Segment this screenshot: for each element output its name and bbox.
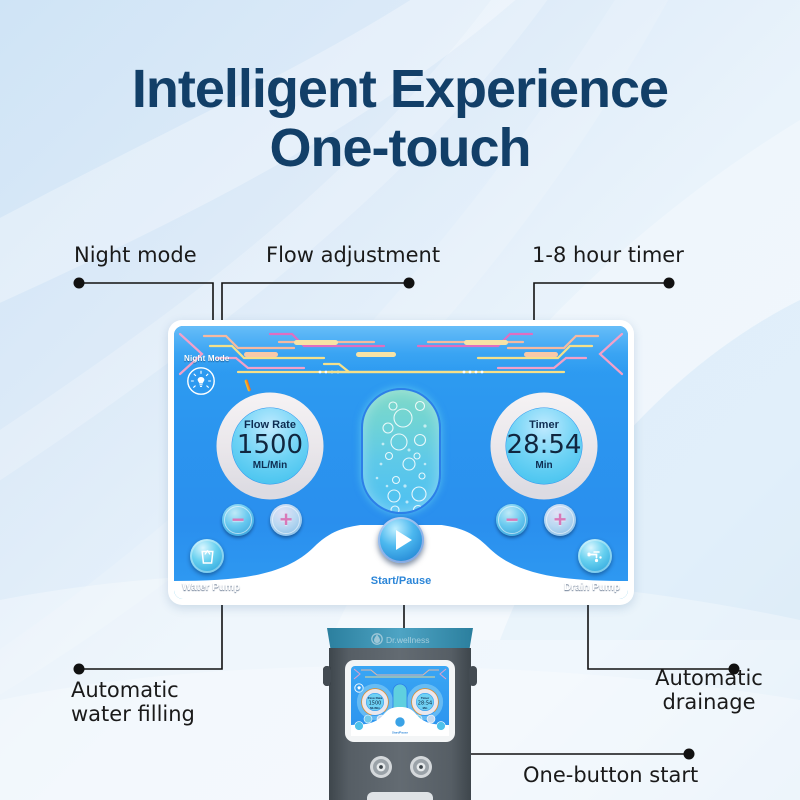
water-pump-label: Water Pump [182,582,240,593]
play-icon [396,530,412,550]
svg-text:Drain Pump: Drain Pump [433,732,448,736]
svg-text:ML/Min: ML/Min [370,706,380,710]
svg-text:Min: Min [423,706,428,710]
callout-automatic-water-filling: Automatic water filling [71,678,271,727]
headline-line-1: Intelligent Experience [0,62,800,117]
bubble-chamber-display [361,388,441,514]
drain-pump-button[interactable] [578,539,612,573]
svg-text:Timer: Timer [421,696,430,700]
device-brand-text: Dr.wellness [386,635,429,645]
callout-drainage-line-2: drainage [662,690,755,714]
callout-water-filling-line-1: Automatic [71,678,179,702]
svg-text:Water Pump: Water Pump [351,732,367,736]
headline-line-2: One-touch [0,121,800,176]
device-unit: Dr.wellness Flow Rate 1500 ML/Min Timer … [319,622,481,800]
callout-one-button-start: One-button start [523,763,698,787]
water-pump-button[interactable] [190,539,224,573]
flow-rate-gauge[interactable]: Flow Rate 1500 ML/Min [196,372,344,520]
bubbles-icon [363,390,441,514]
device-knob-left [370,756,392,778]
drain-pump-label: Drain Pump [564,582,620,593]
start-pause-label: Start/Pause [371,575,432,587]
callout-automatic-drainage: Automatic drainage [624,666,794,715]
control-panel-screen[interactable]: Night Mode [174,326,628,599]
callout-drainage-line-1: Automatic [655,666,763,690]
svg-text:Start/Pause: Start/Pause [392,731,408,735]
start-pause-button[interactable] [378,517,424,563]
control-panel-frame: Night Mode [168,320,634,605]
callout-water-filling-line-2: water filling [71,702,195,726]
night-mode-label: Night Mode [184,354,230,363]
callout-night-mode: Night mode [74,243,197,267]
device-knob-right [410,756,432,778]
page-title: Intelligent Experience One-touch [0,62,800,176]
water-cup-icon [198,547,217,566]
callout-hour-timer: 1-8 hour timer [532,243,684,267]
faucet-icon [586,547,605,566]
svg-text:Flow Rate: Flow Rate [368,696,383,700]
callout-flow-adjustment: Flow adjustment [266,243,440,267]
timer-gauge[interactable]: Timer 28:54 Min [470,372,618,520]
